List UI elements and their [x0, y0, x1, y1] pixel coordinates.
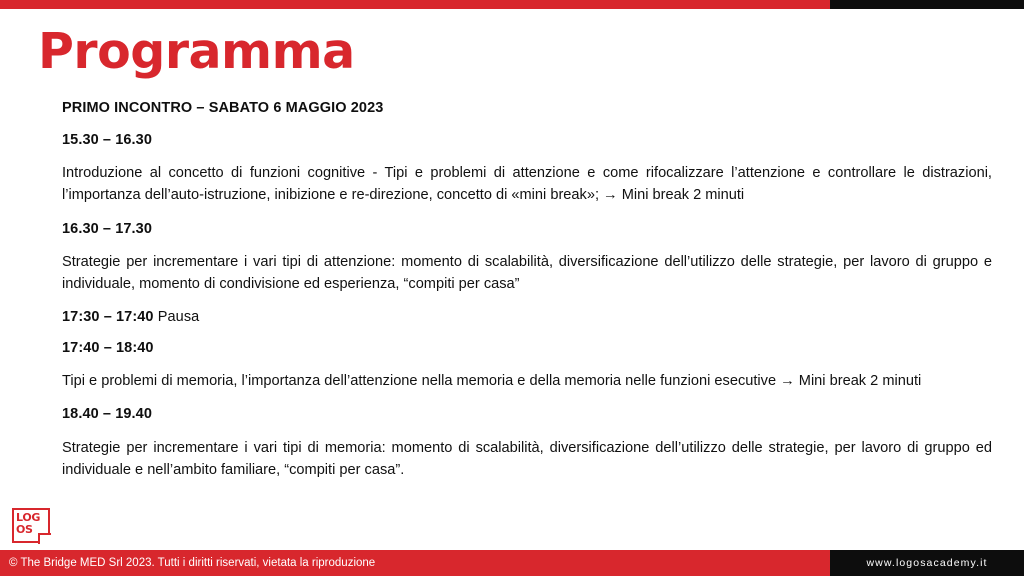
logo-wordmark-line1: LOG: [16, 512, 40, 524]
footer-copyright-section: © The Bridge MED Srl 2023. Tutti i dirit…: [0, 550, 830, 576]
footer-copyright-text: © The Bridge MED Srl 2023. Tutti i dirit…: [0, 557, 375, 569]
program-item-body-4: Strategie per incrementare i vari tipi d…: [62, 437, 992, 481]
program-item-body-1: Strategie per incrementare i vari tipi d…: [62, 251, 992, 295]
logos-logo: LOG OS: [12, 508, 50, 543]
footer-bar: © The Bridge MED Srl 2023. Tutti i dirit…: [0, 550, 1024, 576]
program-item: 16.30 – 17.30 Strategie per incrementare…: [62, 220, 992, 295]
time-label: 17:30 – 17:40: [62, 309, 154, 325]
top-accent-bar: [0, 0, 1024, 9]
program-item: 15.30 – 16.30 Introduzione al concetto d…: [62, 131, 992, 206]
top-accent-bar-red-segment: [0, 0, 830, 9]
logo-wordmark: LOG OS: [16, 512, 40, 535]
time-label: 18.40 – 19.40: [62, 406, 152, 422]
time-suffix-label: Pausa: [158, 309, 200, 325]
program-item-time-2: 17:30 – 17:40 Pausa: [62, 308, 992, 326]
session-heading: PRIMO INCONTRO – SABATO 6 MAGGIO 2023: [62, 99, 992, 117]
time-label: 16.30 – 17.30: [62, 221, 152, 237]
program-item-body-0: Introduzione al concetto di funzioni cog…: [62, 162, 992, 206]
program-item-time-0: 15.30 – 16.30: [62, 131, 992, 149]
logo-wordmark-line2: OS: [16, 524, 40, 536]
time-label: 15.30 – 16.30: [62, 132, 152, 148]
program-content: PRIMO INCONTRO – SABATO 6 MAGGIO 2023 15…: [62, 99, 992, 494]
time-label: 17:40 – 18:40: [62, 340, 154, 356]
program-item-time-4: 18.40 – 19.40: [62, 405, 992, 423]
program-item-time-3: 17:40 – 18:40: [62, 339, 992, 357]
footer-website-section: www.logosacademy.it: [830, 550, 1024, 576]
program-item-body-3: Tipi e problemi di memoria, l’importanza…: [62, 370, 992, 392]
program-item-time-1: 16.30 – 17.30: [62, 220, 992, 238]
page-title: Programma: [38, 26, 355, 77]
program-item: 18.40 – 19.40 Strategie per incrementare…: [62, 405, 992, 480]
program-item: 17:30 – 17:40 Pausa: [62, 308, 992, 326]
top-accent-bar-black-segment: [830, 0, 1024, 9]
footer-website-text[interactable]: www.logosacademy.it: [866, 557, 987, 569]
program-item: 17:40 – 18:40 Tipi e problemi di memoria…: [62, 339, 992, 392]
